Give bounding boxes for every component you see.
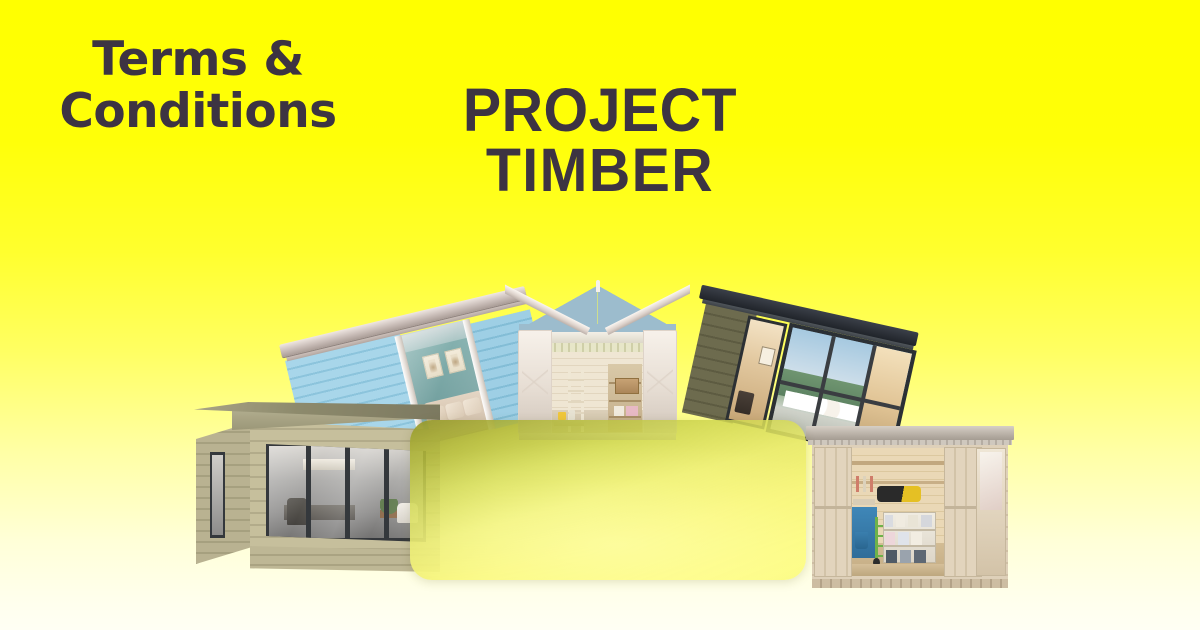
social-share-banner: PROJECT TIMBER <box>0 0 1200 630</box>
b2-door-lintel <box>545 332 650 343</box>
b5-leaf-blower <box>877 486 921 501</box>
b5-hanging-tools <box>856 476 877 491</box>
b2-door-left <box>518 330 552 434</box>
b4-door-mullion-2 <box>345 446 350 538</box>
b5-interior-beam-1 <box>850 461 946 465</box>
b2-storage-crate-pink <box>626 406 638 416</box>
b5-door-far-right <box>976 448 1006 576</box>
b5-floor <box>850 564 946 576</box>
b3-interior-chair <box>734 390 754 415</box>
b5-base-trim <box>812 579 1008 588</box>
b2-shelf-3 <box>609 416 641 418</box>
b2-roof-finial <box>596 280 600 292</box>
building-olive-timber-garden-room <box>192 396 444 578</box>
b5-storage-box-4 <box>921 515 932 528</box>
b2-shelf-2 <box>609 400 641 402</box>
b3-wall-art <box>758 346 776 367</box>
b4-side-window <box>210 452 225 538</box>
b5-storage-box-7 <box>911 532 922 545</box>
b4-door-mullion-3 <box>384 446 389 538</box>
terms-and-conditions-card <box>410 420 806 580</box>
b4-door-mullion-1 <box>306 446 311 538</box>
building-apex-shed-workshop <box>505 280 690 440</box>
b2-tool-yellow <box>558 412 566 420</box>
b2-storage-crate-white <box>614 406 624 416</box>
b2-tool-white <box>569 410 575 420</box>
b5-door-left <box>814 447 852 577</box>
b5-storage-box-1 <box>885 515 894 528</box>
building-pine-workshop-garage <box>806 420 1014 592</box>
b5-interior <box>850 448 946 576</box>
card-vignette <box>410 420 806 580</box>
card-title: Terms & Conditions <box>0 36 396 137</box>
b5-roof <box>806 426 1014 440</box>
b5-storage-box-9 <box>900 550 912 563</box>
b5-storage-box-5 <box>885 532 896 545</box>
b5-storage-box-2 <box>896 515 905 528</box>
card-title-line-1: Terms & <box>0 36 396 84</box>
b5-storage-box-3 <box>908 515 919 528</box>
b5-blue-bucket <box>855 532 868 549</box>
card-title-line-2: Conditions <box>0 88 396 136</box>
b5-storage-box-8 <box>886 550 898 563</box>
b2-vent-strip <box>549 343 646 352</box>
b2-cardboard-box <box>615 378 639 394</box>
b5-storage-box-10 <box>914 550 926 563</box>
b5-storage-box-6 <box>898 532 909 545</box>
b4-sliding-doors <box>266 442 426 542</box>
